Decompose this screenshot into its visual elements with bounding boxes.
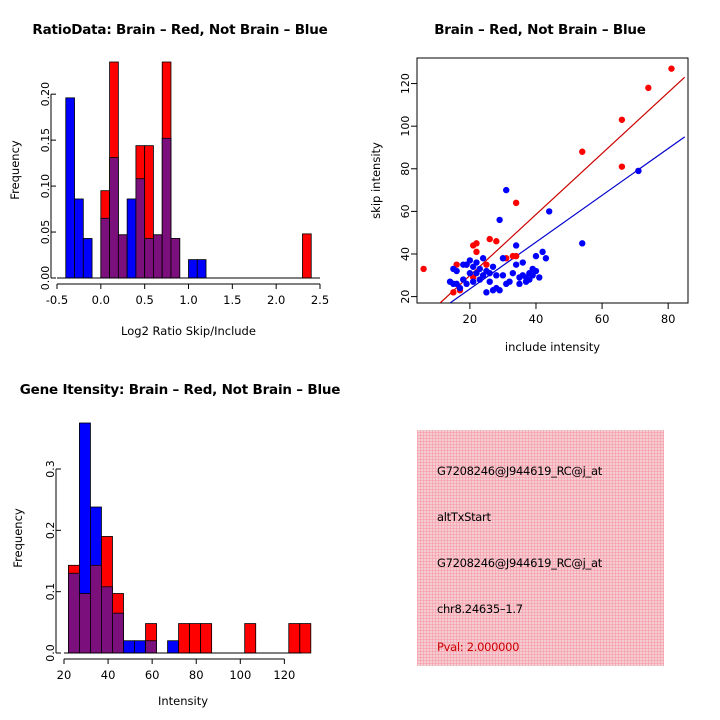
- y-axis-tick-label: 0.3: [44, 460, 57, 478]
- gene-intensity-plot: 0.00.10.20.3Frequency20406080100120Inten…: [0, 360, 360, 720]
- scatter-point: [473, 240, 479, 246]
- x-axis-label: include intensity: [505, 340, 600, 354]
- scatter-point: [473, 249, 479, 255]
- scatter-point: [543, 255, 549, 261]
- y-axis-tick-label: 0.2: [44, 522, 57, 540]
- histogram-bar-overlap: [145, 238, 154, 278]
- x-axis-tick-label: 2.0: [267, 293, 285, 307]
- scatter-point: [668, 65, 674, 71]
- scatter-point: [579, 149, 585, 155]
- scatter-point: [619, 163, 625, 169]
- scatter-inner: [420, 65, 684, 303]
- y-axis-label: Frequency: [11, 508, 25, 568]
- scatter-point: [483, 289, 489, 295]
- scatter-point: [493, 238, 499, 244]
- scatter-point: [467, 270, 473, 276]
- scatter-point: [635, 168, 641, 174]
- histogram-bar-overlap: [68, 573, 79, 653]
- probe-id-repeat-line: G7208246@J944619_RC@j_at: [437, 556, 602, 570]
- pval-line: Pval: 2.000000: [437, 640, 519, 654]
- scatter-point: [483, 261, 489, 267]
- scatter-point: [533, 253, 539, 259]
- x-axis-tick-label: 80: [189, 668, 204, 682]
- scatter-point: [457, 285, 463, 291]
- locus-line: chr8.24635–1.7: [437, 602, 523, 616]
- y-axis-tick-label: 100: [399, 116, 412, 137]
- scatter-point: [510, 270, 516, 276]
- ratio-plot-group: 0.000.050.100.150.20Frequency-0.50.00.51…: [8, 62, 329, 338]
- x-axis-tick-label: 20: [57, 668, 72, 682]
- scatter-point: [513, 253, 519, 259]
- x-axis-tick-label: 100: [229, 668, 251, 682]
- histogram-bar: [66, 98, 75, 278]
- y-axis-tick-label: 0.1: [44, 583, 57, 601]
- x-axis-tick-label: 60: [595, 312, 610, 326]
- scatter-point: [470, 278, 476, 284]
- event-type-line: altTxStart: [437, 510, 491, 524]
- x-axis-tick-label: 1.0: [179, 293, 197, 307]
- histogram-bar: [83, 238, 92, 278]
- histogram-bar-overlap: [110, 158, 119, 278]
- histogram-bar: [289, 624, 300, 653]
- scatter-point: [493, 272, 499, 278]
- x-axis-tick-label: 120: [273, 668, 295, 682]
- y-axis-tick-label: 120: [399, 73, 412, 94]
- probe-info-panel: G7208246@J944619_RC@j_at altTxStart G720…: [360, 360, 720, 720]
- scatter-point: [546, 208, 552, 214]
- x-axis-tick-label: 1.5: [223, 293, 241, 307]
- histogram-bar-overlap: [101, 587, 112, 653]
- scatter-point: [450, 289, 456, 295]
- scatter-point: [579, 240, 585, 246]
- scatter-point: [467, 257, 473, 263]
- scatter-point: [513, 200, 519, 206]
- x-axis-tick-label: 0.5: [136, 293, 154, 307]
- x-axis-tick-label: 20: [463, 312, 478, 326]
- scatter-point: [496, 287, 502, 293]
- intensity-scatter-panel: Brain – Red, Not Brain – Blue 2040608010…: [360, 0, 720, 360]
- x-axis-tick-label: 80: [661, 312, 676, 326]
- y-axis-tick-label: 0.0: [44, 644, 57, 662]
- scatter-point: [487, 236, 493, 242]
- histogram-bar: [168, 641, 179, 653]
- scatter-point: [487, 278, 493, 284]
- scatter-point: [539, 249, 545, 255]
- scatter-point: [500, 255, 506, 261]
- scatter-point: [490, 264, 496, 270]
- x-axis-tick-label: 40: [101, 668, 116, 682]
- histogram-bar: [124, 641, 135, 653]
- y-axis-tick-label: 40: [399, 247, 412, 261]
- histogram-bar-overlap: [136, 179, 145, 278]
- y-axis-tick-label: 0.15: [39, 128, 52, 153]
- scatter-point: [536, 274, 542, 280]
- histogram-bar-overlap: [153, 235, 162, 278]
- histogram-bar: [127, 199, 136, 278]
- y-axis-tick-label: 80: [399, 162, 412, 176]
- scatter-plot-group: 20406080100120skip intensity20406080incl…: [369, 58, 688, 354]
- histogram-bar-overlap: [101, 218, 110, 278]
- histogram-bar: [135, 641, 146, 653]
- x-axis-label: Intensity: [158, 694, 208, 708]
- scatter-point: [520, 259, 526, 265]
- x-axis-label: Log2 Ratio Skip/Include: [121, 324, 256, 338]
- histogram-bar: [189, 260, 198, 278]
- y-axis-label: Frequency: [8, 140, 22, 200]
- scatter-point: [513, 261, 519, 267]
- intensity-scatter-plot: 20406080100120skip intensity20406080incl…: [360, 0, 720, 360]
- scatter-point: [463, 281, 469, 287]
- y-axis-label: skip intensity: [369, 142, 383, 219]
- histogram-bar-overlap: [90, 565, 101, 653]
- probe-info-box: G7208246@J944619_RC@j_at altTxStart G720…: [417, 430, 664, 666]
- scatter-point: [420, 266, 426, 272]
- scatter-point: [513, 242, 519, 248]
- x-axis-tick-label: 40: [529, 312, 544, 326]
- x-axis-tick-label: 0.0: [92, 293, 110, 307]
- scatter-point: [453, 268, 459, 274]
- x-axis-tick-label: -0.5: [46, 293, 68, 307]
- scatter-point: [473, 259, 479, 265]
- scatter-point: [480, 255, 486, 261]
- x-axis-tick-label: 60: [145, 668, 160, 682]
- histogram-bar-overlap: [79, 594, 90, 653]
- scatter-point: [477, 266, 483, 272]
- histogram-bar: [190, 624, 201, 653]
- x-axis-tick-label: 2.5: [311, 293, 329, 307]
- histogram-bar-overlap: [112, 613, 123, 653]
- histogram-bar: [179, 624, 190, 653]
- scatter-point: [503, 187, 509, 193]
- gene-intensity-panel: Gene Itensity: Brain – Red, Not Brain – …: [0, 360, 360, 720]
- y-axis-tick-label: 0.05: [39, 220, 52, 245]
- ratio-histogram-panel: RatioData: Brain – Red, Not Brain – Blue…: [0, 0, 360, 360]
- y-axis-tick-label: 20: [399, 290, 412, 304]
- probe-id-line: G7208246@J944619_RC@j_at: [437, 464, 602, 478]
- histogram-bar: [197, 260, 206, 278]
- gene-plot-group: 0.00.10.20.3Frequency20406080100120Inten…: [11, 423, 311, 708]
- y-axis-tick-label: 0.00: [39, 266, 52, 291]
- histogram-bar-overlap: [162, 138, 171, 278]
- histogram-bar: [245, 624, 256, 653]
- scatter-point: [506, 278, 512, 284]
- scatter-point: [516, 281, 522, 287]
- histogram-bar: [302, 234, 311, 278]
- histogram-bar-overlap: [171, 238, 180, 278]
- histogram-bar: [300, 624, 311, 653]
- scatter-point: [619, 117, 625, 123]
- ratio-histogram-plot: 0.000.050.100.150.20Frequency-0.50.00.51…: [0, 0, 360, 360]
- histogram-bar: [201, 624, 212, 653]
- scatter-point: [487, 270, 493, 276]
- scatter-point: [500, 272, 506, 278]
- scatter-point: [496, 217, 502, 223]
- y-axis-tick-label: 0.10: [39, 174, 52, 199]
- scatter-point: [645, 85, 651, 91]
- scatter-point: [533, 268, 539, 274]
- histogram-bar-overlap: [118, 235, 127, 278]
- y-axis-tick-label: 0.20: [39, 82, 52, 107]
- fit-line-not-brain-fit: [450, 137, 685, 303]
- histogram-bar: [75, 199, 84, 278]
- histogram-bar-overlap: [146, 641, 157, 653]
- y-axis-tick-label: 60: [399, 204, 412, 218]
